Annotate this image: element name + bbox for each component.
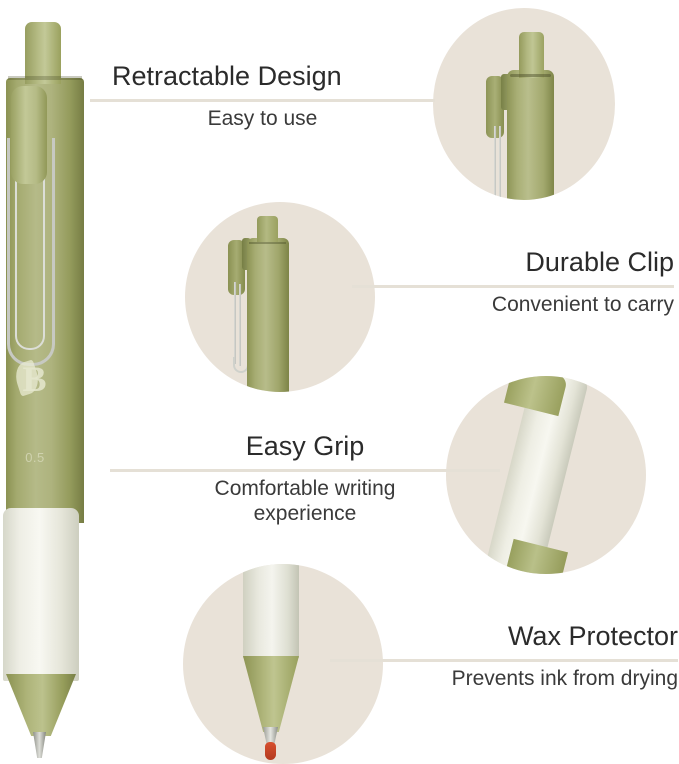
pen-tip-size-label: 0.5 bbox=[10, 450, 60, 465]
feature-divider-rule bbox=[330, 659, 678, 662]
pen-cone-shape bbox=[243, 656, 299, 732]
plunger-closeup-illustration bbox=[433, 8, 615, 200]
feature-callout-retractable-design: Retractable Design Easy to use bbox=[90, 62, 435, 131]
feature-callout-durable-clip: Durable Clip Convenient to carry bbox=[352, 248, 674, 317]
grip-lower-collar-shape bbox=[504, 539, 568, 574]
feature-callout-wax-protector: Wax Protector Prevents ink from drying bbox=[330, 622, 678, 691]
pen-nose-shape bbox=[243, 564, 299, 658]
wax-protector-drop bbox=[265, 742, 276, 760]
feature-divider-rule bbox=[90, 99, 435, 102]
feature-title: Durable Clip bbox=[352, 248, 674, 278]
inset-photo-clip-closeup bbox=[185, 202, 375, 392]
pen-plunger-shape bbox=[519, 32, 544, 78]
pen-plunger-seam bbox=[8, 76, 82, 80]
pen-product-illustration: B 0.5 bbox=[0, 0, 100, 764]
plunger-seam-line bbox=[249, 242, 286, 244]
clip-wire-right bbox=[239, 284, 241, 366]
clip-wire-right bbox=[499, 126, 501, 200]
feature-divider-rule bbox=[352, 285, 674, 288]
feature-title: Wax Protector bbox=[330, 622, 678, 652]
feature-subtitle: Convenient to carry bbox=[352, 292, 674, 317]
feature-subtitle: Easy to use bbox=[90, 106, 435, 131]
feature-title: Easy Grip bbox=[110, 432, 500, 462]
pen-plunger-shape bbox=[257, 216, 278, 242]
pen-barrel-shape bbox=[507, 70, 554, 200]
pen-metal-tip bbox=[33, 732, 46, 758]
plunger-seam-line bbox=[510, 74, 551, 77]
grip-upper-collar-shape bbox=[504, 376, 568, 416]
feature-title: Retractable Design bbox=[90, 62, 435, 92]
clip-wire-left bbox=[494, 126, 496, 200]
pen-plunger bbox=[25, 22, 61, 84]
feature-divider-rule bbox=[110, 469, 500, 472]
inset-photo-plunger-closeup bbox=[433, 8, 615, 200]
pen-barrel-shape bbox=[247, 238, 289, 392]
clip-wire-left bbox=[234, 282, 236, 364]
pen-cone bbox=[6, 674, 76, 736]
feature-callout-easy-grip: Easy Grip Comfortable writing experience bbox=[110, 432, 500, 526]
clip-closeup-illustration bbox=[185, 202, 375, 392]
pen-grip-sleeve bbox=[3, 508, 79, 681]
feature-subtitle-line-2: experience bbox=[110, 501, 500, 526]
feature-subtitle: Prevents ink from drying bbox=[330, 666, 678, 691]
pen-clip-anchor bbox=[11, 86, 47, 184]
product-feature-infographic: B 0.5 Retractable Design Easy to use Dur… bbox=[0, 0, 679, 764]
feature-subtitle-line-1: Comfortable writing bbox=[110, 476, 500, 501]
brand-logo-letter: B bbox=[14, 358, 54, 400]
